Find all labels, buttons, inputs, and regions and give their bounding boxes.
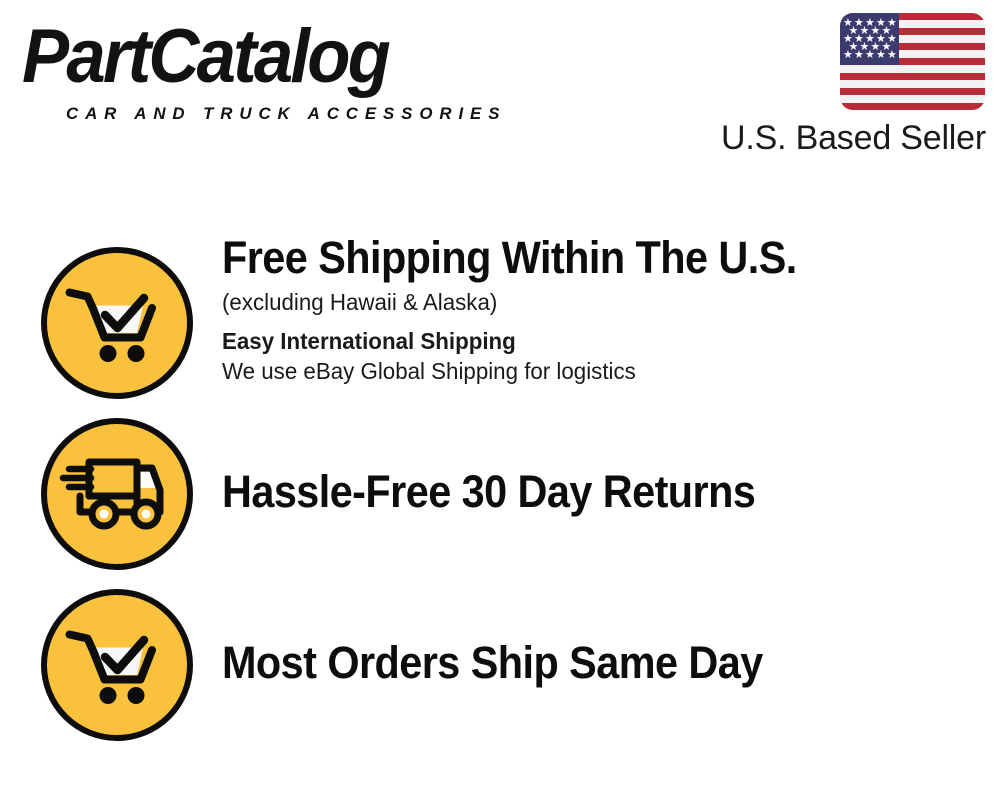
feature-text-block: Most Orders Ship Same Day	[222, 638, 982, 688]
flag-star: ★	[854, 49, 864, 60]
flag-canton: ★ ★ ★ ★ ★ ★ ★ ★ ★ ★ ★ ★ ★ ★ ★ ★ ★ ★ ★ ★ …	[840, 13, 899, 65]
cart-check-icon	[41, 589, 193, 741]
flag-star: ★	[876, 49, 886, 60]
feature-subtext: (excluding Hawaii & Alaska)	[222, 287, 959, 317]
cart-check-icon	[41, 247, 193, 399]
flag-star: ★	[887, 49, 897, 60]
delivery-truck-icon	[41, 418, 193, 570]
brand-logo[interactable]: PartCatalog CAR AND TRUCK ACCESSORIES	[22, 18, 492, 118]
feature-text-block: Hassle-Free 30 Day Returns	[222, 467, 982, 517]
flag-star: ★	[865, 49, 875, 60]
brand-wordmark: PartCatalog	[22, 18, 388, 96]
feature-text-block: Free Shipping Within The U.S. (excluding…	[222, 233, 982, 386]
flag-stripe	[840, 103, 985, 110]
flag-stripe	[840, 73, 985, 80]
flag-stripe	[840, 88, 985, 95]
feature-subtext: We use eBay Global Shipping for logistic…	[222, 356, 959, 386]
flag-stripe	[840, 95, 985, 102]
flag-stripe	[840, 65, 985, 72]
feature-heading: Most Orders Ship Same Day	[222, 638, 921, 688]
us-based-seller-label: U.S. Based Seller	[721, 118, 986, 158]
feature-heading: Free Shipping Within The U.S.	[222, 233, 921, 283]
us-flag-icon: ★ ★ ★ ★ ★ ★ ★ ★ ★ ★ ★ ★ ★ ★ ★ ★ ★ ★ ★ ★ …	[840, 13, 985, 110]
brand-tagline: CAR AND TRUCK ACCESSORIES	[66, 104, 506, 124]
feature-subtext-bold: Easy International Shipping	[222, 326, 959, 356]
feature-heading: Hassle-Free 30 Day Returns	[222, 467, 921, 517]
flag-stripe	[840, 80, 985, 87]
flag-star: ★	[843, 49, 853, 60]
